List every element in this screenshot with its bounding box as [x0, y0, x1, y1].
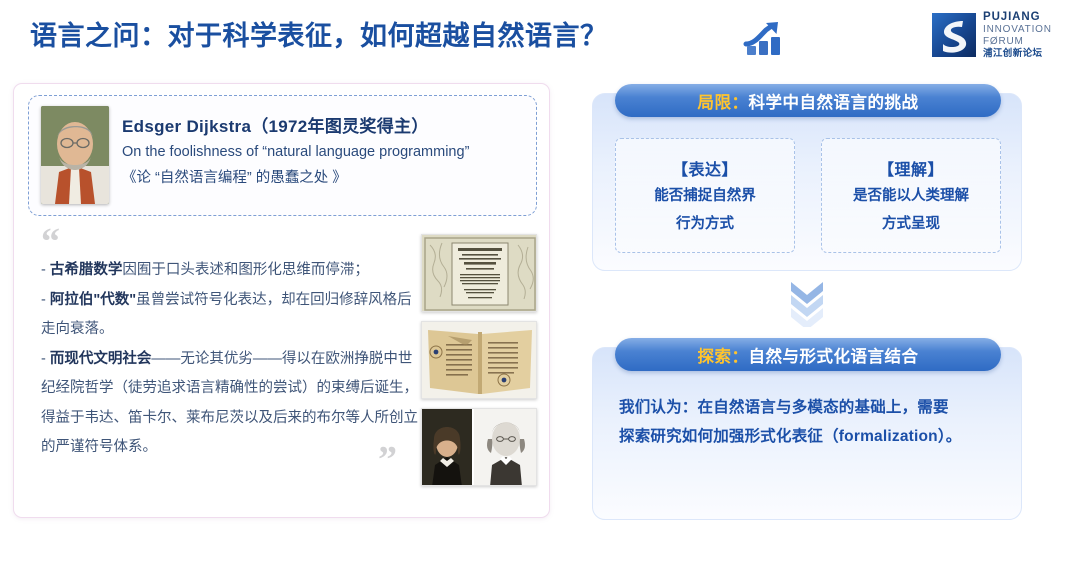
explore-section-card: 探索：自然与形式化语言结合 我们认为：在自然语言与多模态的基础上，需要 探索研究… [592, 347, 1022, 520]
quote-line-1: - 古希腊数学因囿于口头表述和图形化思维而停滞； [41, 256, 421, 286]
right-content-column: 局限：科学中自然语言的挑战 【表达】 能否捕捉自然界 行为方式 【理解】 是否能… [592, 83, 1022, 520]
quote-line-2-bold: 阿拉伯"代数" [50, 292, 136, 308]
dijkstra-text-block: Edsger Dijkstra（1972年图灵奖得主） On the fooli… [122, 106, 469, 187]
limits-card-expression-line-1: 能否捕捉自然界 [654, 186, 756, 207]
limits-header-rest: 科学中自然语言的挑战 [749, 89, 919, 113]
quote-line-2-prefix: - [41, 292, 50, 308]
logo-line-forum: FØRUM [983, 37, 1052, 47]
explore-body-text: 我们认为：在自然语言与多模态的基础上，需要 探索研究如何加强形式化表征（form… [619, 394, 1001, 451]
limits-card-expression-title: 【表达】 [672, 156, 738, 180]
explore-header-rest: 自然与形式化语言结合 [749, 343, 919, 367]
descartes-and-boole-portraits-image [421, 408, 537, 486]
limits-sub-cards: 【表达】 能否捕捉自然界 行为方式 【理解】 是否能以人类理解 方式呈现 [615, 138, 1001, 253]
dijkstra-name: Edsger Dijkstra（1972年图灵奖得主） [122, 112, 469, 137]
logo-line-pujiang: PUJIANG [983, 12, 1052, 24]
dijkstra-paper-title-zh: 《论 “自然语言编程” 的愚蠢之处 》 [122, 166, 469, 187]
dijkstra-paper-title-en: On the foolishness of “natural language … [122, 144, 469, 160]
explore-header-highlight: 探索： [698, 343, 749, 367]
explore-body-line-2: 探索研究如何加强形式化表征（formalization）。 [619, 423, 1001, 452]
page-header: 语言之问：对于科学表征，如何超越自然语言？ PUJIANG INNOVATION… [0, 0, 1080, 72]
triple-chevron-down-icon [785, 279, 829, 327]
limits-card-understanding-title: 【理解】 [878, 156, 944, 180]
quote-line-3: - 而现代文明社会——无论其优劣——得以在欧洲挣脱中世纪经院哲学（徒劳追求语言精… [41, 345, 421, 463]
limits-section-header: 局限：科学中自然语言的挑战 [615, 84, 1001, 117]
dijkstra-quote-card: Edsger Dijkstra（1972年图灵奖得主） On the fooli… [28, 95, 537, 216]
limits-card-understanding-line-2: 方式呈现 [882, 214, 940, 235]
brand-logo: PUJIANG INNOVATION FØRUM 浦江创新论坛 [932, 12, 1070, 58]
explore-body-line-1: 我们认为：在自然语言与多模态的基础上，需要 [619, 394, 1001, 423]
limits-section-card: 局限：科学中自然语言的挑战 【表达】 能否捕捉自然界 行为方式 【理解】 是否能… [592, 93, 1022, 271]
quote-line-2: - 阿拉伯"代数"虽曾尝试符号化表达，却在回归修辞风格后走向衰落。 [41, 286, 421, 345]
quote-body: - 古希腊数学因囿于口头表述和图形化思维而停滞； - 阿拉伯"代数"虽曾尝试符号… [41, 256, 421, 463]
logo-line-chinese: 浦江创新论坛 [983, 49, 1052, 59]
quote-line-1-rest: 因囿于口头表述和图形化思维而停滞； [122, 262, 369, 278]
limits-card-understanding: 【理解】 是否能以人类理解 方式呈现 [821, 138, 1001, 253]
arabic-manuscript-open-book-image [421, 321, 537, 399]
history-image-strip [421, 234, 537, 486]
left-content-panel: Edsger Dijkstra（1972年图灵奖得主） On the fooli… [13, 83, 550, 518]
pujiang-logo-mark-icon [932, 13, 976, 57]
logo-text-block: PUJIANG INNOVATION FØRUM 浦江创新论坛 [983, 12, 1052, 58]
limits-card-expression: 【表达】 能否捕捉自然界 行为方式 [615, 138, 795, 253]
quote-line-3-prefix: - [41, 351, 50, 367]
euclid-elements-title-page-image [421, 234, 537, 312]
explore-section-header: 探索：自然与形式化语言结合 [615, 338, 1001, 371]
limits-card-expression-line-2: 行为方式 [676, 214, 734, 235]
quote-close-mark: ” [378, 441, 397, 479]
quote-line-3-bold: 而现代文明社会 [50, 351, 152, 367]
quote-line-1-bold: 古希腊数学 [50, 262, 123, 278]
growth-chart-icon [742, 20, 788, 58]
page-title: 语言之问：对于科学表征，如何超越自然语言？ [30, 14, 608, 53]
limits-header-highlight: 局限： [698, 89, 749, 113]
logo-line-innovation: INNOVATION [983, 25, 1052, 35]
quote-line-1-prefix: - [41, 262, 50, 278]
limits-card-understanding-line-1: 是否能以人类理解 [853, 186, 969, 207]
edsger-dijkstra-portrait-photo [41, 106, 109, 204]
